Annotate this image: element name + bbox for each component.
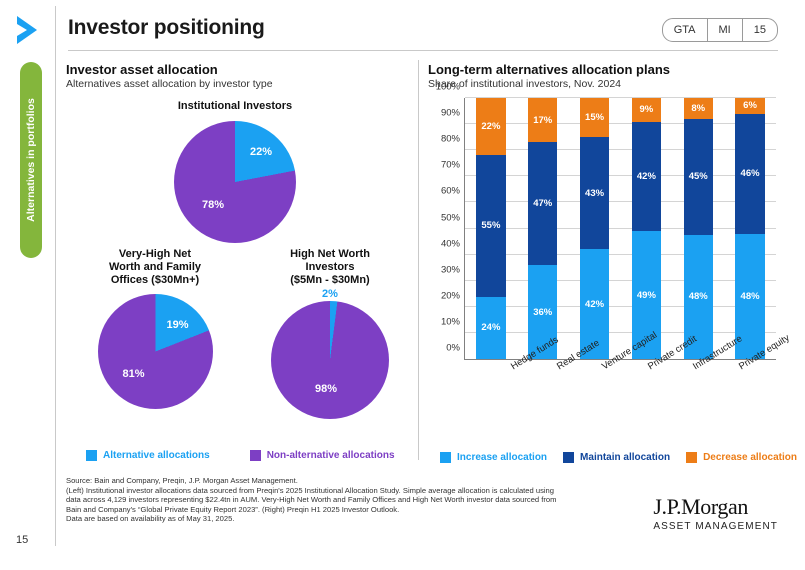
section-tab-alternatives-in-portfolios[interactable]: Alternatives in portfolios	[20, 62, 42, 258]
jpmorgan-tagline: ASSET MANAGEMENT	[653, 521, 778, 532]
stacked-bar-chart: 0%10%20%30%40%50%60%70%80%90%100% 22%55%…	[428, 98, 778, 388]
bar-segment-label: 15%	[585, 112, 604, 123]
left-panel-subtitle: Alternatives asset allocation by investo…	[66, 78, 411, 90]
y-axis-tick-label: 30%	[441, 264, 460, 275]
bar-legend-item-maintain[interactable]: Maintain allocation	[563, 452, 670, 463]
pie-legend-label-alternative: Alternative allocations	[103, 450, 210, 461]
bar-segment-label: 47%	[533, 198, 552, 209]
bar-series-container: 22%55%24%17%47%36%15%43%42%9%42%49%8%45%…	[465, 98, 776, 359]
bar-legend-swatch-maintain	[563, 452, 574, 463]
pie-title-hnw: High Net Worth Investors ($5Mn - $30Mn)	[255, 248, 405, 287]
bar-segment[interactable]: 55%	[476, 155, 505, 297]
pie-graphic-vhnw: 19% 81%	[98, 294, 213, 409]
header-rule	[68, 50, 778, 51]
right-panel-subtitle: Share of institutional investors, Nov. 2…	[428, 78, 778, 90]
bar-segment-label: 9%	[640, 104, 654, 115]
bar-legend-item-decrease[interactable]: Decrease allocation	[686, 452, 797, 463]
page-number: 15	[16, 534, 28, 546]
pie-graphic-hnw: 98%	[271, 301, 389, 419]
bar-segment-label: 49%	[637, 290, 656, 301]
bar-segment-label: 36%	[533, 307, 552, 318]
pie-slice-label-nonalt: 78%	[202, 199, 224, 211]
pie-slice-label-alt: 19%	[167, 319, 189, 331]
pie-slice-label-nonalt: 81%	[123, 368, 145, 380]
bar-segment-label: 48%	[741, 291, 760, 302]
bar-segment[interactable]: 22%	[476, 98, 505, 155]
bar-legend-item-increase[interactable]: Increase allocation	[440, 452, 547, 463]
bar-segment-label: 46%	[741, 168, 760, 179]
bar-legend-swatch-decrease	[686, 452, 697, 463]
panel-divider	[418, 60, 419, 460]
bar-column[interactable]: 22%55%24%	[476, 98, 505, 359]
bar-segment[interactable]: 8%	[684, 98, 713, 119]
bar-segment-label: 42%	[585, 299, 604, 310]
bar-legend-swatch-increase	[440, 452, 451, 463]
pie-chart-hnw: High Net Worth Investors ($5Mn - $30Mn) …	[255, 248, 405, 419]
y-axis-tick-label: 70%	[441, 160, 460, 171]
bar-legend: Increase allocation Maintain allocation …	[440, 452, 797, 463]
y-axis-tick-label: 20%	[441, 290, 460, 301]
bar-segment[interactable]: 46%	[735, 114, 764, 234]
bar-segment[interactable]: 9%	[632, 98, 661, 121]
pie-chart-institutional: Institutional Investors 22% 78%	[150, 100, 320, 243]
bar-segment-label: 43%	[585, 188, 604, 199]
header-badge-group[interactable]: GTA MI 15	[662, 18, 778, 42]
pie-title-vhnw-line1: Very-High Net	[80, 248, 230, 261]
bar-segment-label: 45%	[689, 171, 708, 182]
slide: Investor positioning GTA MI 15 Alternati…	[0, 0, 805, 570]
badge-mi[interactable]: MI	[707, 19, 742, 41]
bar-segment-label: 48%	[689, 291, 708, 302]
left-panel-title: Investor asset allocation	[66, 62, 411, 77]
y-axis-tick-label: 10%	[441, 316, 460, 327]
y-axis-tick-label: 60%	[441, 186, 460, 197]
badge-gta[interactable]: GTA	[663, 19, 707, 41]
y-axis-tick-label: 80%	[441, 134, 460, 145]
right-panel-title: Long-term alternatives allocation plans	[428, 62, 778, 77]
bar-segment-label: 6%	[743, 100, 757, 111]
bar-segment[interactable]: 6%	[735, 98, 764, 114]
y-axis-tick-label: 90%	[441, 108, 460, 119]
y-axis-tick-label: 100%	[436, 82, 460, 93]
footnote: Source: Bain and Company, Preqin, J.P. M…	[66, 476, 656, 524]
bar-column[interactable]: 6%46%48%	[735, 98, 764, 359]
right-panel: Long-term alternatives allocation plans …	[428, 62, 778, 90]
y-axis-tick-label: 50%	[441, 212, 460, 223]
y-axis-tick-label: 0%	[446, 343, 460, 354]
bar-segment[interactable]: 47%	[528, 142, 557, 265]
pie-chart-vhnw: Very-High Net Worth and Family Offices (…	[80, 248, 230, 409]
y-axis-tick-label: 40%	[441, 238, 460, 249]
pie-slice-label-alt: 22%	[250, 146, 272, 158]
pie-legend: Alternative allocations Non-alternative …	[86, 450, 395, 461]
bar-segment-label: 8%	[691, 103, 705, 114]
blue-chevron-right-icon	[14, 14, 40, 46]
left-panel: Investor asset allocation Alternatives a…	[66, 62, 411, 90]
pie-legend-swatch-nonalternative	[250, 450, 261, 461]
pie-title-vhnw-line2: Worth and Family	[80, 261, 230, 274]
pie-legend-item-nonalternative[interactable]: Non-alternative allocations	[250, 450, 395, 461]
pie-title-hnw-line1: High Net Worth	[255, 248, 405, 261]
bar-column[interactable]: 9%42%49%	[632, 98, 661, 359]
bar-segment[interactable]: 42%	[632, 122, 661, 232]
vertical-divider	[55, 6, 56, 546]
pie-slice-label-alt-outside: 2%	[255, 288, 405, 300]
plot-area: 0%10%20%30%40%50%60%70%80%90%100% 22%55%…	[464, 98, 776, 360]
bar-column[interactable]: 17%47%36%	[528, 98, 557, 359]
section-tab-label: Alternatives in portfolios	[25, 98, 37, 222]
bar-segment-label: 42%	[637, 171, 656, 182]
bar-segment[interactable]: 15%	[580, 98, 609, 137]
badge-page[interactable]: 15	[742, 19, 777, 41]
bar-legend-label-maintain: Maintain allocation	[580, 452, 670, 463]
bar-segment[interactable]: 17%	[528, 98, 557, 142]
pie-title-vhnw: Very-High Net Worth and Family Offices (…	[80, 248, 230, 287]
pie-title-institutional: Institutional Investors	[150, 100, 320, 113]
bar-legend-label-increase: Increase allocation	[457, 452, 547, 463]
bar-legend-label-decrease: Decrease allocation	[703, 452, 797, 463]
bar-segment[interactable]: 45%	[684, 119, 713, 235]
pie-title-hnw-line3: ($5Mn - $30Mn)	[255, 274, 405, 287]
pie-legend-label-nonalternative: Non-alternative allocations	[267, 450, 395, 461]
bar-segment-label: 55%	[481, 220, 500, 231]
bar-column[interactable]: 8%45%48%	[684, 98, 713, 359]
bar-segment-label: 17%	[533, 115, 552, 126]
pie-slice-label-nonalt: 98%	[315, 383, 337, 395]
pie-legend-swatch-alternative	[86, 450, 97, 461]
bar-segment[interactable]: 24%	[476, 297, 505, 359]
jpmorgan-logo: J.P.Morgan ASSET MANAGEMENT	[653, 494, 778, 532]
pie-title-vhnw-line3: Offices ($30Mn+)	[80, 274, 230, 287]
bar-segment-label: 22%	[481, 121, 500, 132]
pie-graphic-institutional: 22% 78%	[174, 121, 296, 243]
page-title: Investor positioning	[68, 16, 265, 40]
pie-title-hnw-line2: Investors	[255, 261, 405, 274]
pie-legend-item-alternative[interactable]: Alternative allocations	[86, 450, 210, 461]
bar-segment[interactable]: 43%	[580, 137, 609, 249]
bar-segment-label: 24%	[481, 322, 500, 333]
bar-column[interactable]: 15%43%42%	[580, 98, 609, 359]
jpmorgan-wordmark: J.P.Morgan	[653, 494, 778, 520]
